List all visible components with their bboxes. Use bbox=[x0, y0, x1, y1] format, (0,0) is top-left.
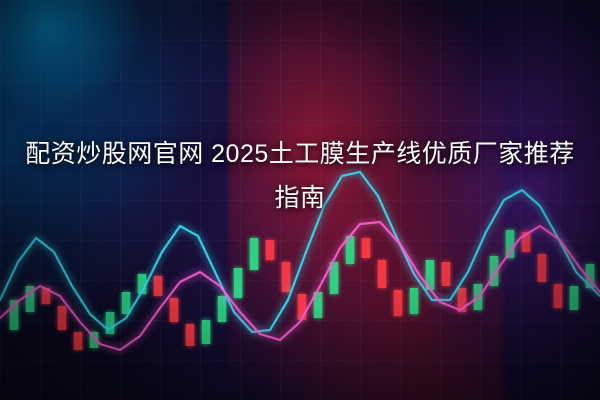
page-title: 配资炒股网官网 2025土工膜生产线优质厂家推荐指南 bbox=[0, 132, 600, 220]
image-canvas: 配资炒股网官网 2025土工膜生产线优质厂家推荐指南 bbox=[0, 0, 600, 400]
page-title-text: 配资炒股网官网 2025土工膜生产线优质厂家推荐指南 bbox=[25, 140, 575, 212]
